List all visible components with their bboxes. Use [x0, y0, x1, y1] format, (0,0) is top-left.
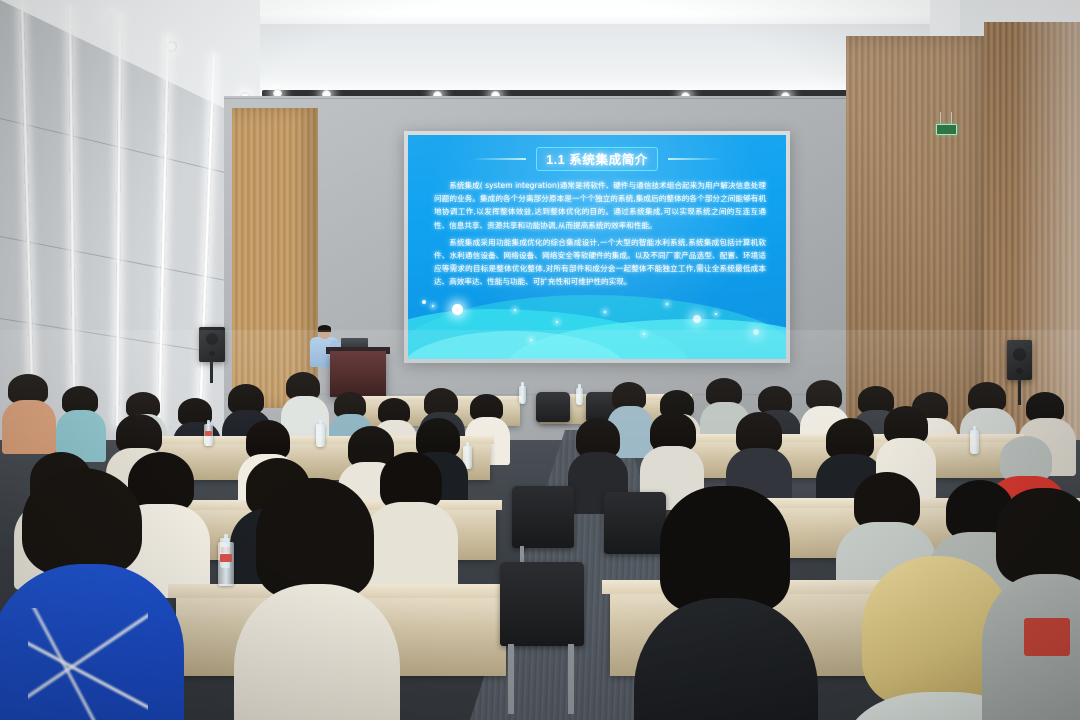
projection-screen: 1.1 系统集成简介 系统集成( system integration)通常是将…: [404, 131, 790, 363]
presenter-hair: [318, 325, 331, 332]
loudspeaker-left: [199, 327, 225, 362]
slide-bullet-dot: [422, 300, 426, 304]
chair: [604, 492, 666, 554]
slide-surface: 1.1 系统集成简介 系统集成( system integration)通常是将…: [408, 135, 786, 359]
slide-spark: [530, 339, 532, 341]
hair: [660, 486, 790, 612]
slide-spark: [666, 303, 668, 305]
hair: [256, 478, 374, 598]
slide-paragraph-1: 系统集成( system integration)通常是将软件、硬件与通信技术组…: [434, 179, 766, 232]
water-bottle: [970, 430, 979, 454]
slide-spark: [556, 321, 558, 323]
lecture-hall-photo: 1.1 系统集成简介 系统集成( system integration)通常是将…: [0, 0, 1080, 720]
slide-spark: [604, 311, 606, 313]
chair: [500, 562, 584, 646]
slide-paragraph-2: 系统集成采用功能集成优化的综合集成设计,一个大型的智能水利系统,系统集成包括计算…: [434, 236, 766, 289]
chair-leg: [508, 644, 514, 714]
water-bottle: [204, 424, 213, 446]
loudspeaker-right-stand: [1018, 379, 1021, 405]
slide-body-text: 系统集成( system integration)通常是将软件、硬件与通信技术组…: [434, 179, 766, 293]
slide-spark: [432, 305, 434, 307]
title-rule-left: [472, 158, 526, 160]
loudspeaker-left-stand: [210, 361, 213, 383]
title-rule-right: [668, 158, 722, 160]
exit-sign: [936, 124, 957, 135]
hair: [22, 468, 142, 576]
slide-orb: [693, 315, 701, 323]
front-wood-panel: [232, 108, 318, 408]
slide-orb: [452, 304, 463, 315]
water-bottle: [576, 388, 583, 405]
slide-spark: [514, 309, 516, 311]
water-bottle: [316, 424, 325, 447]
slide-spark: [715, 313, 717, 315]
water-bottle: [519, 386, 526, 404]
podium: [330, 351, 386, 397]
slide-title-row: 1.1 系统集成简介: [408, 147, 786, 171]
chair: [536, 392, 570, 422]
slide-title: 1.1 系统集成简介: [536, 147, 658, 171]
hair: [996, 488, 1080, 584]
shirt-graphic: [28, 608, 148, 720]
chair-leg: [568, 644, 574, 714]
shirt-logo: [1024, 618, 1070, 656]
loudspeaker-right: [1007, 340, 1032, 380]
chair: [512, 486, 574, 548]
slide-orb: [753, 329, 759, 335]
slide-spark: [643, 333, 645, 335]
water-bottle: [218, 542, 234, 586]
